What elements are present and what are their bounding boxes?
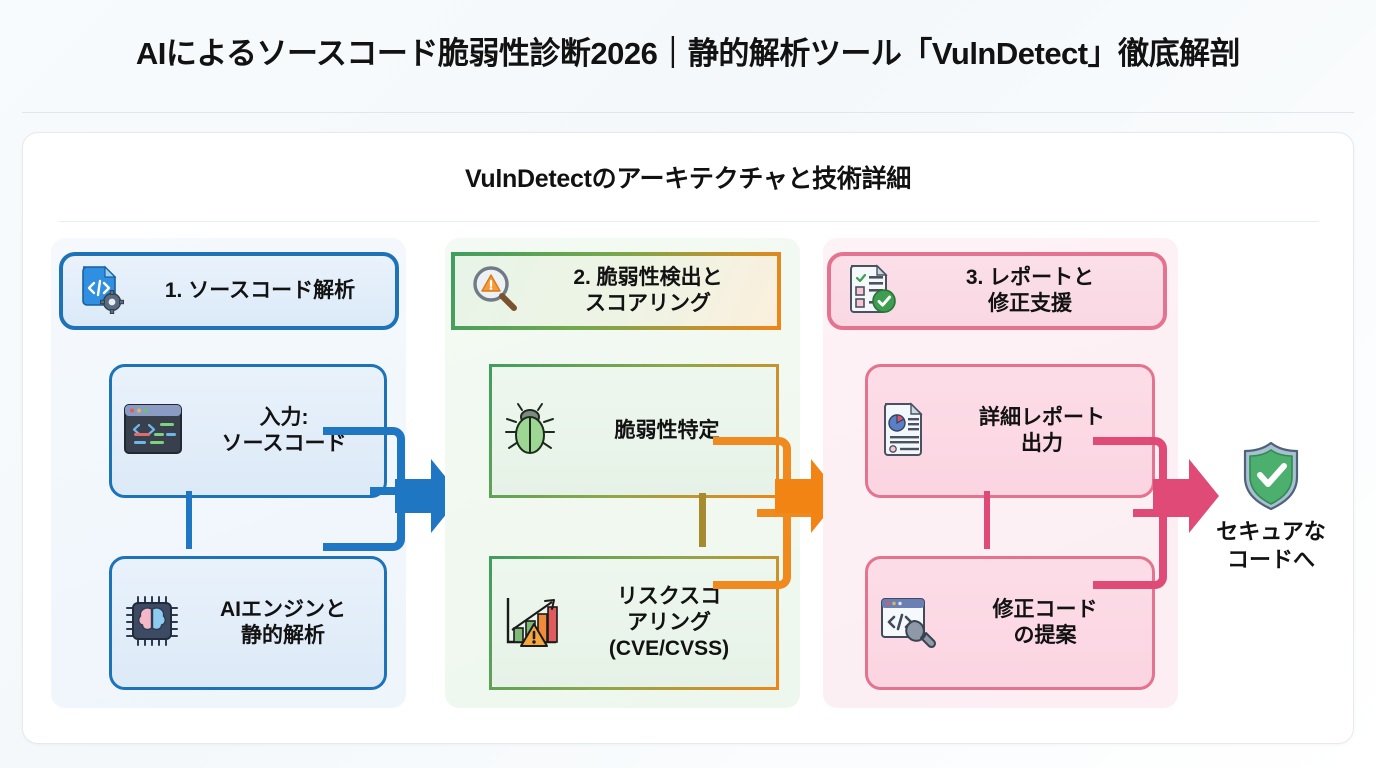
code-file-gear-icon bbox=[77, 263, 127, 320]
code-window-wrench-icon bbox=[878, 593, 938, 654]
card-title: VulnDetectのアーキテクチャと技術詳細 bbox=[23, 159, 1353, 195]
header-divider bbox=[22, 112, 1354, 113]
card-divider bbox=[59, 221, 1319, 222]
stage-header-source-code-analysis[interactable]: 1. ソースコード解析 bbox=[59, 252, 399, 330]
slide-root: AIによるソースコード脆弱性診断2026｜静的解析ツール「VulnDetect」… bbox=[0, 0, 1376, 768]
checklist-check-icon bbox=[845, 262, 899, 321]
bar-chart-warning-icon bbox=[502, 592, 562, 655]
outcome-secure-code: セキュアな コードへ bbox=[1186, 440, 1356, 573]
bug-icon bbox=[502, 400, 558, 463]
outcome-label: セキュアな コードへ bbox=[1186, 518, 1356, 573]
code-editor-window-icon bbox=[122, 401, 184, 462]
stage-header-label: 3. レポートと 修正支援 bbox=[911, 265, 1149, 316]
connector-stage1-vertical bbox=[183, 491, 195, 549]
connector-stage3-vertical bbox=[981, 491, 993, 549]
stage-header-label: 1. ソースコード解析 bbox=[139, 278, 381, 304]
stage-header-report-and-remediation[interactable]: 3. レポートと 修正支援 bbox=[827, 252, 1167, 330]
stage-header-vulnerability-detection-scoring[interactable]: 2. 脆弱性検出と スコアリング bbox=[451, 252, 781, 330]
magnifier-warning-icon bbox=[469, 263, 521, 320]
shield-check-icon bbox=[1238, 440, 1304, 512]
page-title: AIによるソースコード脆弱性診断2026｜静的解析ツール「VulnDetect」… bbox=[0, 28, 1376, 73]
stage-header-label: 2. 脆弱性検出と スコアリング bbox=[533, 265, 763, 316]
brain-chip-icon bbox=[122, 592, 182, 655]
report-pie-document-icon bbox=[878, 400, 932, 463]
architecture-card: VulnDetectのアーキテクチャと技術詳細 bbox=[22, 132, 1354, 744]
